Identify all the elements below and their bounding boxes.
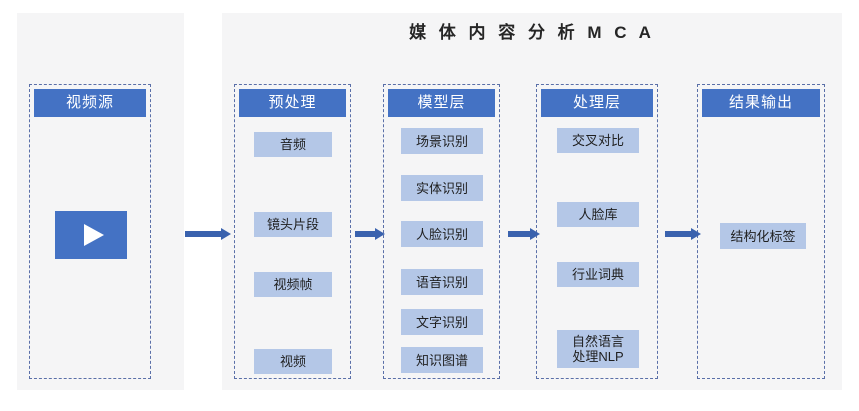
arrow-source-to-preprocess — [185, 228, 231, 240]
stage-preprocess: 预处理 音频 镜头片段 视频帧 视频 — [234, 84, 351, 379]
arrow-shaft — [508, 231, 530, 237]
stage-header-model-layer: 模型层 — [388, 89, 495, 117]
arrow-shaft — [665, 231, 691, 237]
chip-face-recognition[interactable]: 人脸识别 — [401, 221, 483, 247]
arrow-head — [221, 228, 231, 240]
chip-video[interactable]: 视频 — [254, 349, 332, 374]
chip-speech-recognition[interactable]: 语音识别 — [401, 269, 483, 295]
chip-industry-dictionary[interactable]: 行业词典 — [557, 262, 639, 287]
stage-header-result-output: 结果输出 — [702, 89, 820, 117]
arrow-head — [375, 228, 385, 240]
arrow-model-to-process — [508, 228, 540, 240]
page-title: 媒 体 内 容 分 析 M C A — [222, 18, 842, 43]
chip-cross-compare[interactable]: 交叉对比 — [557, 128, 639, 153]
stage-header-process-layer: 处理层 — [541, 89, 653, 117]
play-icon — [84, 224, 104, 246]
arrow-shaft — [185, 231, 221, 237]
chip-structured-tag[interactable]: 结构化标签 — [720, 223, 806, 249]
stage-process-layer: 处理层 交叉对比 人脸库 行业词典 自然语言 处理NLP — [536, 84, 658, 379]
chip-text-recognition[interactable]: 文字识别 — [401, 309, 483, 335]
chip-nlp[interactable]: 自然语言 处理NLP — [557, 330, 639, 368]
arrow-process-to-result — [665, 228, 701, 240]
arrow-preprocess-to-model — [355, 228, 385, 240]
chip-shot-segment[interactable]: 镜头片段 — [254, 212, 332, 237]
chip-face-library[interactable]: 人脸库 — [557, 202, 639, 227]
stage-header-video-source: 视频源 — [34, 89, 146, 117]
stage-video-source: 视频源 — [29, 84, 151, 379]
chip-entity-recognition[interactable]: 实体识别 — [401, 175, 483, 201]
stage-model-layer: 模型层 场景识别 实体识别 人脸识别 语音识别 文字识别 知识图谱 — [383, 84, 500, 379]
video-thumbnail[interactable] — [55, 211, 127, 259]
stage-header-preprocess: 预处理 — [239, 89, 346, 117]
chip-scene-recognition[interactable]: 场景识别 — [401, 128, 483, 154]
chip-audio[interactable]: 音频 — [254, 132, 332, 157]
arrow-head — [691, 228, 701, 240]
arrow-head — [530, 228, 540, 240]
chip-knowledge-graph[interactable]: 知识图谱 — [401, 347, 483, 373]
arrow-shaft — [355, 231, 375, 237]
chip-video-frame[interactable]: 视频帧 — [254, 272, 332, 297]
stage-result-output: 结果输出 结构化标签 — [697, 84, 825, 379]
